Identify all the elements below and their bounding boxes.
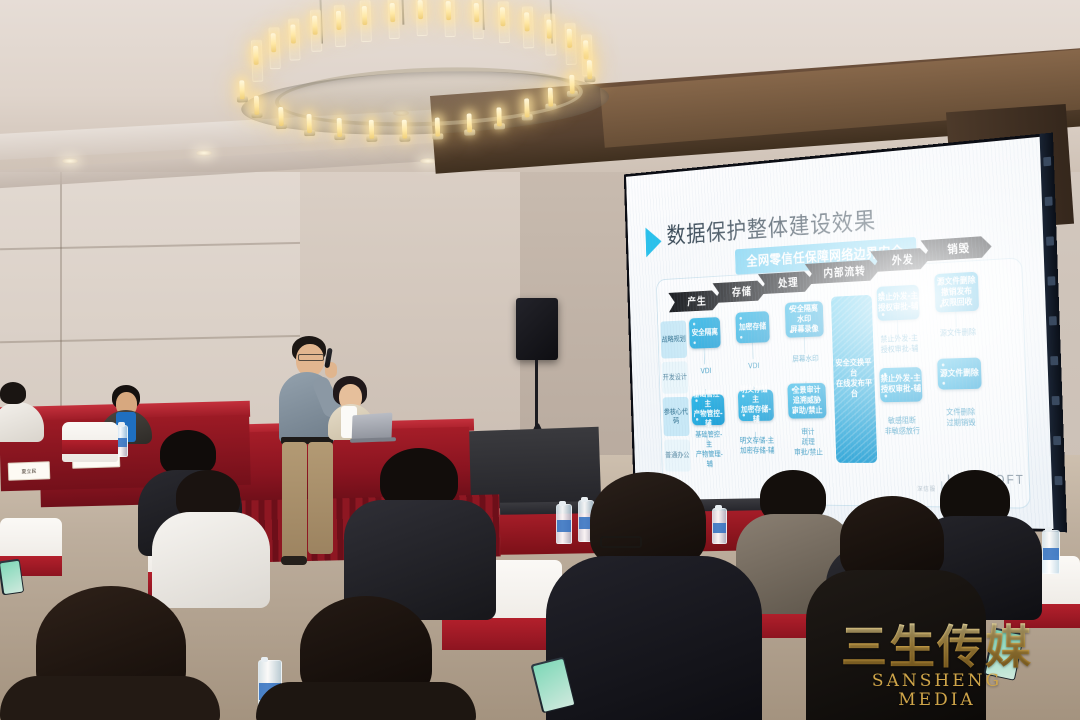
name-card: 夏立民 <box>8 461 51 480</box>
water-bottle <box>1042 530 1060 574</box>
water-bottle <box>556 504 572 544</box>
conference-presentation-photo: 数据保护整体建设效果 全网零信任保障网络边界安全 产生 存储 处理 内部流转 外… <box>0 0 1080 720</box>
shoe <box>281 556 307 565</box>
led-video-wall: 数据保护整体建设效果 全网零信任保障网络边界安全 产生 存储 处理 内部流转 外… <box>624 133 1067 533</box>
downlight-icon <box>420 158 436 164</box>
water-bottle <box>712 508 727 544</box>
downlight-icon <box>62 158 78 164</box>
chair-sash <box>62 440 118 454</box>
led-glow <box>626 137 1053 529</box>
pa-speaker <box>516 298 558 360</box>
chandelier <box>219 0 628 153</box>
downlight-icon <box>196 150 212 156</box>
chair-sash <box>442 618 562 650</box>
glasses-icon <box>298 354 324 361</box>
glasses-icon <box>600 536 642 548</box>
